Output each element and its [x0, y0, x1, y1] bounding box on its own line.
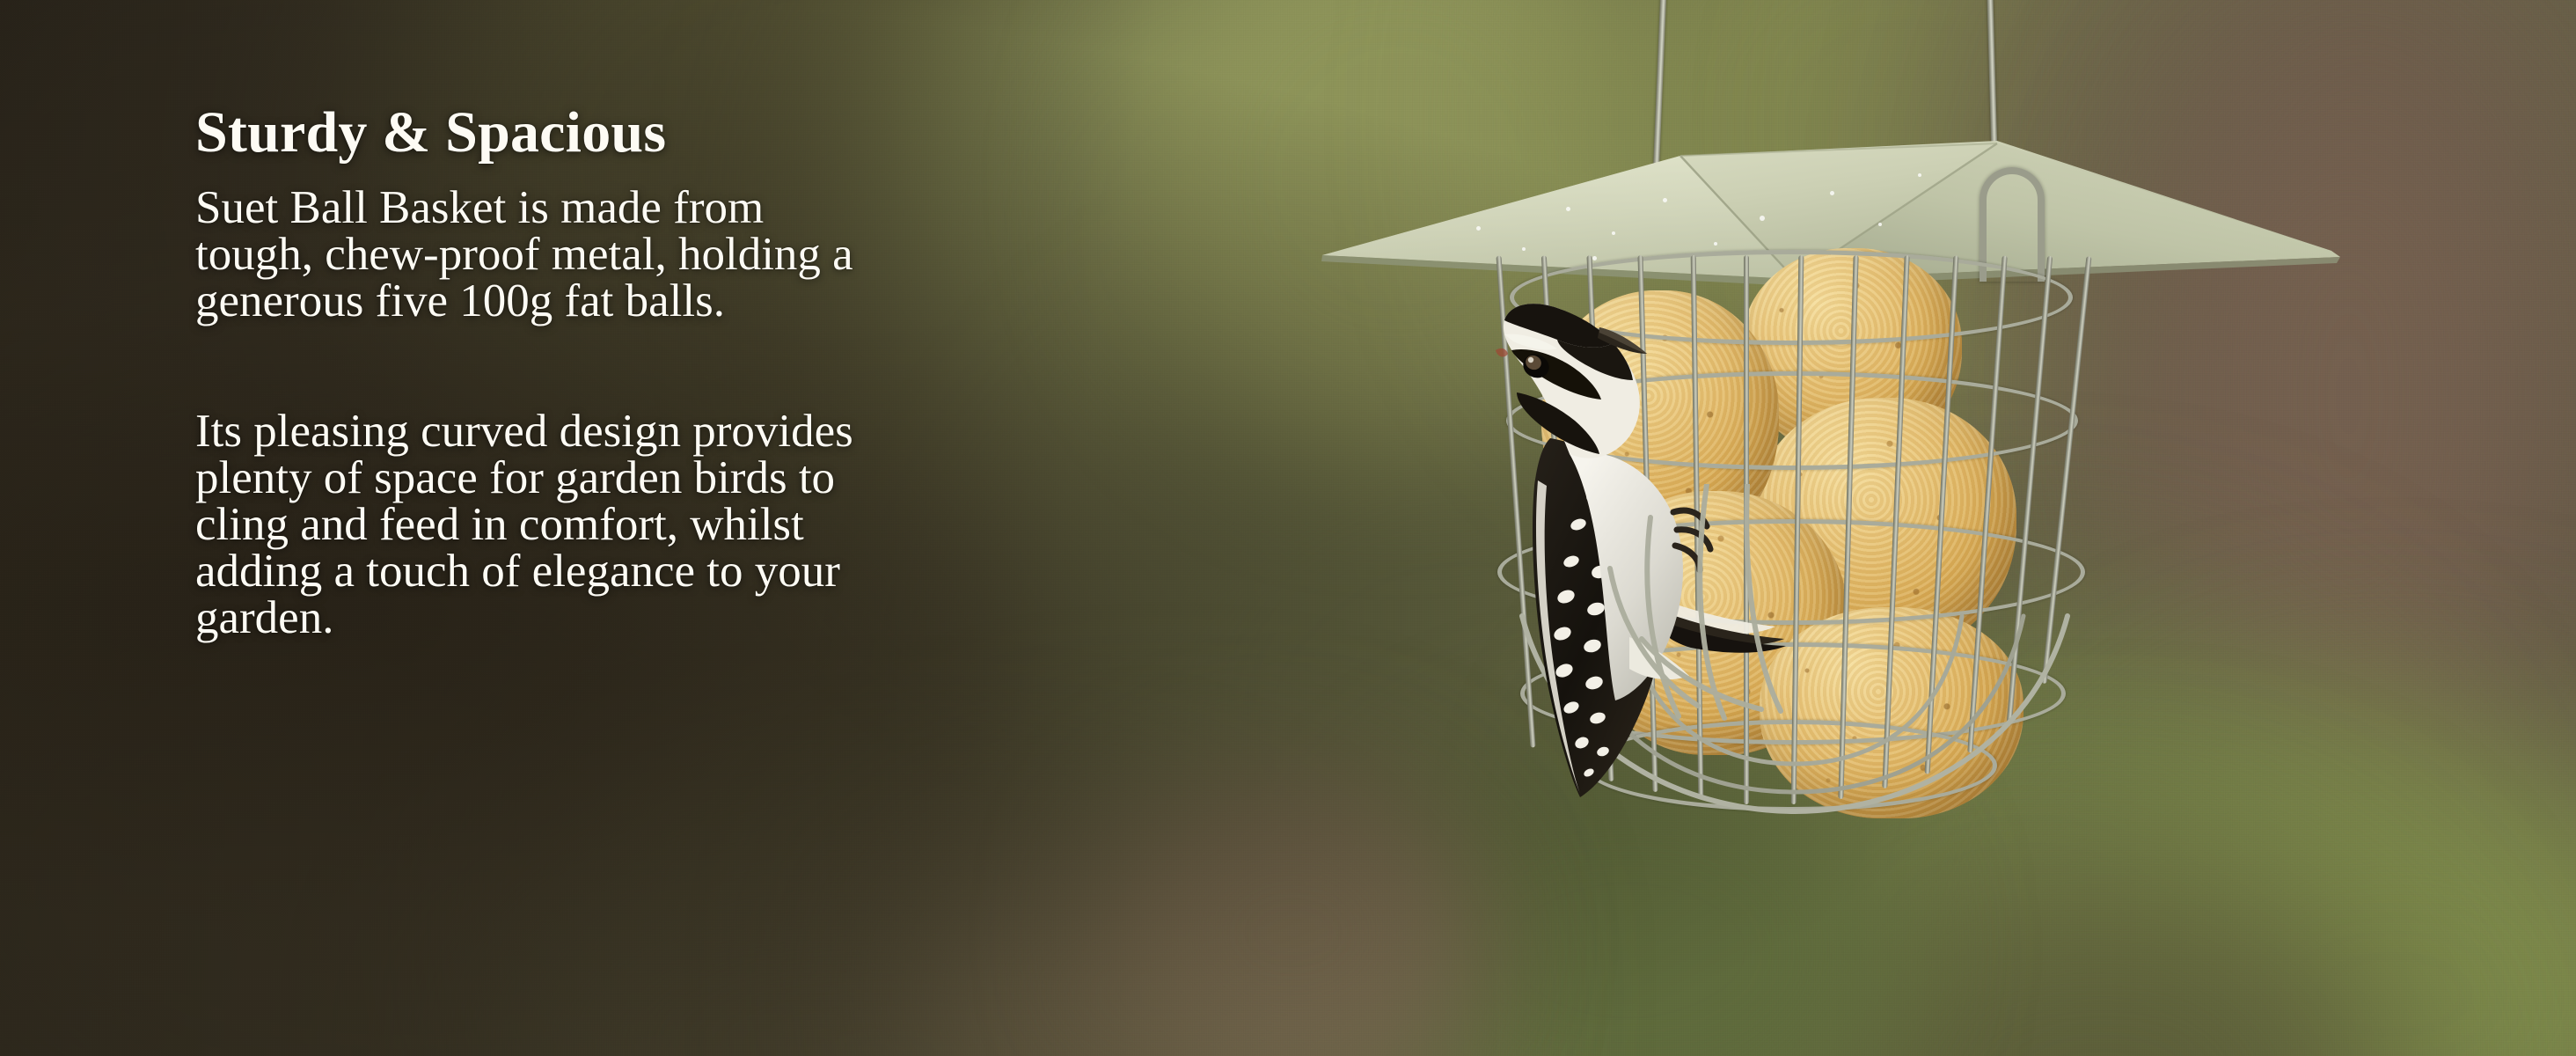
paragraph-design-benefits: Its pleasing curved design provides plen… [195, 408, 1233, 642]
promo-banner: Sturdy & Spacious Suet Ball Basket is ma… [0, 0, 2576, 1056]
copy-block: Sturdy & Spacious Suet Ball Basket is ma… [195, 104, 1233, 642]
suet-ball-basket-feeder [1302, 0, 2358, 1056]
cage-foreground-wires [1434, 484, 1927, 889]
bird-head [1496, 304, 1647, 458]
paragraph-product-description: Suet Ball Basket is made from tough, che… [195, 185, 1233, 325]
page-title: Sturdy & Spacious [195, 104, 1233, 162]
